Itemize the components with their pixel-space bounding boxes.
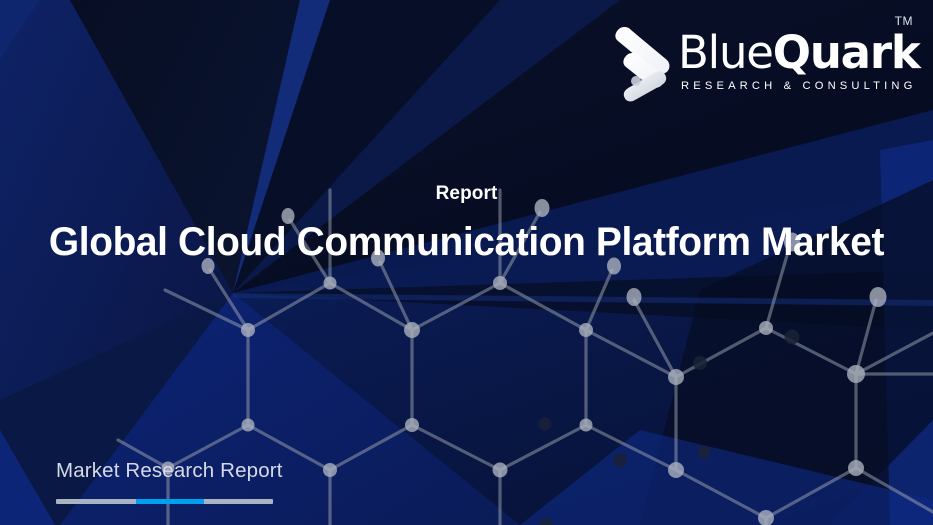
- report-cover-page: TM BlueQuark RESEARCH & CO: [0, 0, 933, 525]
- report-kicker: Report: [0, 182, 933, 206]
- brand-logo[interactable]: BlueQuark RESEARCH & CONSULTING: [612, 18, 912, 110]
- page-title: Global Cloud Communication Platform Mark…: [7, 218, 926, 266]
- wordmark-blue: Blue: [678, 26, 773, 79]
- footer-block: Market Research Report: [56, 458, 476, 504]
- rule-segment-right: [204, 499, 273, 504]
- footer-label: Market Research Report: [56, 458, 476, 484]
- accent-rule-bar: [56, 499, 273, 504]
- wordmark: BlueQuark: [678, 28, 910, 78]
- bluequark-arrow-mark: [612, 26, 674, 106]
- title-block: Report Global Cloud Communication Platfo…: [0, 182, 933, 292]
- logo-wordmark-group: BlueQuark RESEARCH & CONSULTING: [678, 28, 910, 93]
- logo-tagline: RESEARCH & CONSULTING: [678, 79, 910, 93]
- wordmark-quark: Quark: [773, 26, 920, 79]
- rule-segment-left: [56, 499, 136, 504]
- rule-segment-accent: [136, 499, 204, 504]
